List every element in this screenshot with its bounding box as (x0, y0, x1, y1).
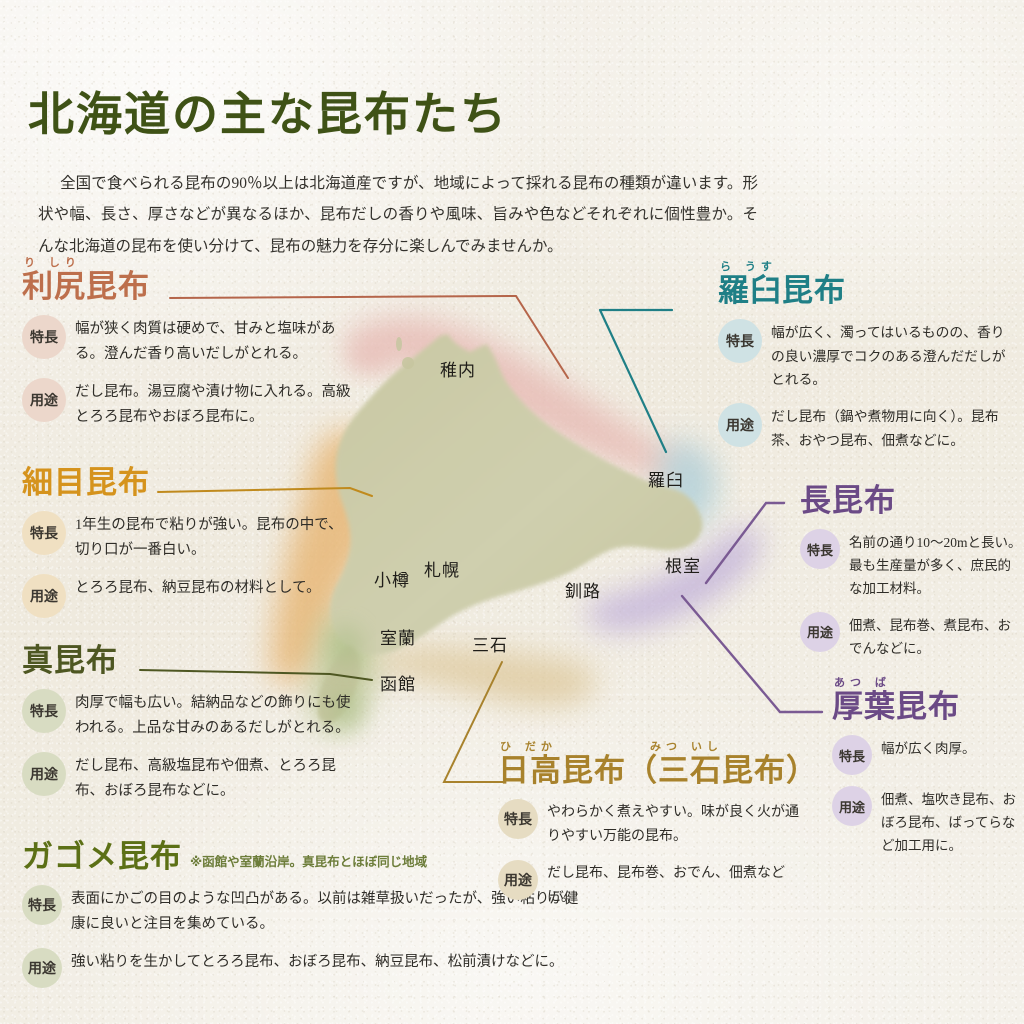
variety-name-text: 利尻昆布 (22, 269, 150, 305)
usage-text: 佃煮、昆布巻、煮昆布、おでんなどに。 (849, 612, 1024, 660)
infographic-page: 北海道の主な昆布たち 全国で食べられる昆布の90％以上は北海道産ですが、地域によ… (0, 0, 1024, 1024)
city-label-kushiro: 釧路 (565, 577, 601, 602)
usage-text: だし昆布（鍋や煮物用に向く）。昆布茶、おやつ昆布、佃煮などに。 (771, 403, 1018, 452)
ruby-rishiri: り しり (24, 257, 81, 268)
variety-rows-hosome: 特長 1年生の昆布で粘りが強い。昆布の中で、切り口が一番白い。 用途 とろろ昆布… (22, 511, 352, 618)
variety-card-atsuba: あつ ば 厚葉昆布 特長 幅が広く肉厚。 用途 佃煮、塩吹き昆布、おぼろ昆布、ば… (832, 692, 1024, 869)
rishiri-island (402, 357, 414, 369)
variety-name-text: 日高昆布（三石昆布） (498, 753, 818, 789)
variety-name-gagome: ガゴメ昆布 (22, 842, 182, 873)
usage-pill: 用途 (22, 752, 66, 796)
feature-row: 特長 幅が広く、濁ってはいるものの、香りの良い濃厚でコクのある澄んだだしがとれる… (718, 319, 1018, 392)
variety-name-nagakombu: 長昆布 (800, 486, 896, 517)
feature-text: 幅が広く、濁ってはいるものの、香りの良い濃厚でコクのある澄んだだしがとれる。 (771, 319, 1018, 392)
rebun-island (396, 337, 402, 351)
connector-nagakombu (706, 503, 784, 583)
variety-name-text: 羅臼昆布 (718, 273, 846, 309)
variety-rows-nagakombu: 特長 名前の通り10〜20mと長い。最も生産量が多く、庶民的な加工材料。 用途 … (800, 529, 1024, 660)
usage-pill: 用途 (498, 860, 538, 900)
usage-text: だし昆布、昆布巻、おでん、佃煮などに。 (547, 860, 810, 910)
ruby-rausu: ら うす (720, 261, 777, 272)
ruby-hidaka: ひ だか (500, 741, 557, 752)
feature-row: 特長 肉厚で幅も広い。結納品などの飾りにも使われる。上品な甘みのあるだしがとれる… (22, 689, 352, 741)
intro-text: 全国で食べられる昆布の90％以上は北海道産ですが、地域によって採れる昆布の種類が… (38, 175, 758, 256)
variety-card-hosome: 細目昆布 特長 1年生の昆布で粘りが強い。昆布の中で、切り口が一番白い。 用途 … (22, 468, 352, 629)
hokkaido-landmass (330, 334, 702, 654)
city-label-nemuro: 根室 (665, 552, 701, 577)
feature-row: 特長 幅が狭く肉質は硬めで、甘みと塩味がある。澄んだ香り高いだしがとれる。 (22, 315, 352, 367)
variety-card-rishiri: り しり 利尻昆布 特長 幅が狭く肉質は硬めで、甘みと塩味がある。澄んだ香り高い… (22, 272, 352, 441)
usage-row: 用途 とろろ昆布、納豆昆布の材料として。 (22, 574, 352, 618)
feature-text: 幅が広く肉厚。 (881, 735, 976, 760)
feature-text: 幅が狭く肉質は硬めで、甘みと塩味がある。澄んだ香り高いだしがとれる。 (75, 315, 352, 367)
variety-card-rausu: ら うす 羅臼昆布 特長 幅が広く、濁ってはいるものの、香りの良い濃厚でコクのあ… (718, 276, 1018, 464)
variety-name-hosome: 細目昆布 (22, 468, 150, 499)
usage-row: 用途 だし昆布。湯豆腐や漬け物に入れる。高級とろろ昆布やおぼろ昆布に。 (22, 378, 352, 430)
ruby-mitsuishi: みつ いし (650, 741, 723, 752)
variety-name-text: ガゴメ昆布 (22, 839, 182, 875)
usage-row: 用途 だし昆布、昆布巻、おでん、佃煮などに。 (498, 860, 810, 910)
usage-text: 強い粘りを生かしてとろろ昆布、おぼろ昆布、納豆昆布、松前漬けなどに。 (71, 948, 564, 975)
usage-row: 用途 だし昆布（鍋や煮物用に向く）。昆布茶、おやつ昆布、佃煮などに。 (718, 403, 1018, 452)
variety-rows-hidaka: 特長 やわらかく煮えやすい。味が良く火が通りやすい万能の昆布。 用途 だし昆布、… (498, 799, 810, 910)
variety-name-rausu: ら うす 羅臼昆布 (718, 276, 846, 307)
feature-pill: 特長 (498, 799, 538, 839)
page-title: 北海道の主な昆布たち (28, 78, 508, 144)
variety-rows-makombu: 特長 肉厚で幅も広い。結納品などの飾りにも使われる。上品な甘みのあるだしがとれる… (22, 689, 352, 804)
variety-name-hidaka: ひ だか みつ いし 日高昆布（三石昆布） (498, 756, 818, 787)
variety-name-text: 真昆布 (22, 643, 118, 679)
variety-rows-rausu: 特長 幅が広く、濁ってはいるものの、香りの良い濃厚でコクのある澄んだだしがとれる… (718, 319, 1018, 453)
variety-heading-nagakombu: 長昆布 (800, 486, 1024, 517)
usage-pill: 用途 (22, 574, 66, 618)
usage-pill: 用途 (22, 378, 66, 422)
feature-row: 特長 名前の通り10〜20mと長い。最も生産量が多く、庶民的な加工材料。 (800, 529, 1024, 601)
feature-row: 特長 幅が広く肉厚。 (832, 735, 1024, 775)
usage-text: とろろ昆布、納豆昆布の材料として。 (75, 574, 321, 601)
feature-text: やわらかく煮えやすい。味が良く火が通りやすい万能の昆布。 (547, 799, 810, 849)
city-label-otaru: 小樽 (374, 566, 410, 591)
feature-pill: 特長 (800, 529, 840, 569)
variety-rows-atsuba: 特長 幅が広く肉厚。 用途 佃煮、塩吹き昆布、おぼろ昆布、ばってらなど加工用に。 (832, 735, 1024, 858)
feature-pill: 特長 (22, 885, 62, 925)
feature-pill: 特長 (832, 735, 872, 775)
usage-row: 用途 強い粘りを生かしてとろろ昆布、おぼろ昆布、納豆昆布、松前漬けなどに。 (22, 948, 582, 988)
variety-heading-atsuba: あつ ば 厚葉昆布 (832, 692, 1024, 723)
usage-pill: 用途 (800, 612, 840, 652)
feature-pill: 特長 (22, 315, 66, 359)
feature-text: 1年生の昆布で粘りが強い。昆布の中で、切り口が一番白い。 (75, 511, 352, 563)
feature-row: 特長 1年生の昆布で粘りが強い。昆布の中で、切り口が一番白い。 (22, 511, 352, 563)
usage-pill: 用途 (832, 786, 872, 826)
usage-pill: 用途 (718, 403, 762, 447)
city-label-mitsuishi: 三石 (472, 631, 508, 656)
variety-name-makombu: 真昆布 (22, 646, 118, 677)
city-label-rausu: 羅臼 (648, 466, 684, 491)
zone-rishiri (345, 317, 694, 482)
variety-name-rishiri: り しり 利尻昆布 (22, 272, 150, 303)
feature-row: 特長 やわらかく煮えやすい。味が良く火が通りやすい万能の昆布。 (498, 799, 810, 849)
intro-paragraph: 全国で食べられる昆布の90％以上は北海道産ですが、地域によって採れる昆布の種類が… (38, 168, 758, 263)
variety-heading-rausu: ら うす 羅臼昆布 (718, 276, 1018, 307)
usage-pill: 用途 (22, 948, 62, 988)
usage-row: 用途 佃煮、昆布巻、煮昆布、おでんなどに。 (800, 612, 1024, 660)
variety-heading-hosome: 細目昆布 (22, 468, 352, 499)
usage-row: 用途 佃煮、塩吹き昆布、おぼろ昆布、ばってらなど加工用に。 (832, 786, 1024, 858)
feature-pill: 特長 (22, 689, 66, 733)
feature-text: 名前の通り10〜20mと長い。最も生産量が多く、庶民的な加工材料。 (849, 529, 1024, 601)
variety-heading-hidaka: ひ だか みつ いし 日高昆布（三石昆布） (498, 756, 810, 787)
feature-pill: 特長 (718, 319, 762, 363)
variety-name-text: 長昆布 (800, 483, 896, 519)
usage-text: だし昆布、高級塩昆布や佃煮、とろろ昆布、おぼろ昆布などに。 (75, 752, 352, 804)
feature-text: 肉厚で幅も広い。結納品などの飾りにも使われる。上品な甘みのあるだしがとれる。 (75, 689, 352, 741)
zone-nagakombu (588, 528, 762, 631)
usage-row: 用途 だし昆布、高級塩昆布や佃煮、とろろ昆布、おぼろ昆布などに。 (22, 752, 352, 804)
city-label-muroran: 室蘭 (380, 624, 416, 649)
connector-hidaka (444, 662, 503, 782)
ruby-atsuba: あつ ば (834, 677, 891, 688)
variety-card-makombu: 真昆布 特長 肉厚で幅も広い。結納品などの飾りにも使われる。上品な甘みのあるだし… (22, 646, 352, 815)
usage-text: だし昆布。湯豆腐や漬け物に入れる。高級とろろ昆布やおぼろ昆布に。 (75, 378, 352, 430)
connector-rausu (600, 310, 672, 452)
variety-note-gagome: ※函館や室蘭沿岸。真昆布とほぼ同じ地域 (190, 851, 427, 873)
zone-rishiri-islands (345, 342, 392, 375)
variety-heading-makombu: 真昆布 (22, 646, 352, 677)
city-label-hakodate: 函館 (380, 670, 416, 695)
variety-name-text: 厚葉昆布 (832, 689, 960, 725)
variety-name-atsuba: あつ ば 厚葉昆布 (832, 692, 960, 723)
feature-pill: 特長 (22, 511, 66, 555)
variety-heading-rishiri: り しり 利尻昆布 (22, 272, 352, 303)
city-label-wakkanai: 稚内 (440, 356, 476, 381)
usage-text: 佃煮、塩吹き昆布、おぼろ昆布、ばってらなど加工用に。 (881, 786, 1024, 858)
variety-name-text: 細目昆布 (22, 465, 150, 501)
variety-card-hidaka: ひ だか みつ いし 日高昆布（三石昆布） 特長 やわらかく煮えやすい。味が良く… (498, 756, 810, 921)
variety-card-nagakombu: 長昆布 特長 名前の通り10〜20mと長い。最も生産量が多く、庶民的な加工材料。… (800, 486, 1024, 671)
city-label-sapporo: 札幌 (424, 556, 460, 581)
variety-rows-rishiri: 特長 幅が狭く肉質は硬めで、甘みと塩味がある。澄んだ香り高いだしがとれる。 用途… (22, 315, 352, 430)
